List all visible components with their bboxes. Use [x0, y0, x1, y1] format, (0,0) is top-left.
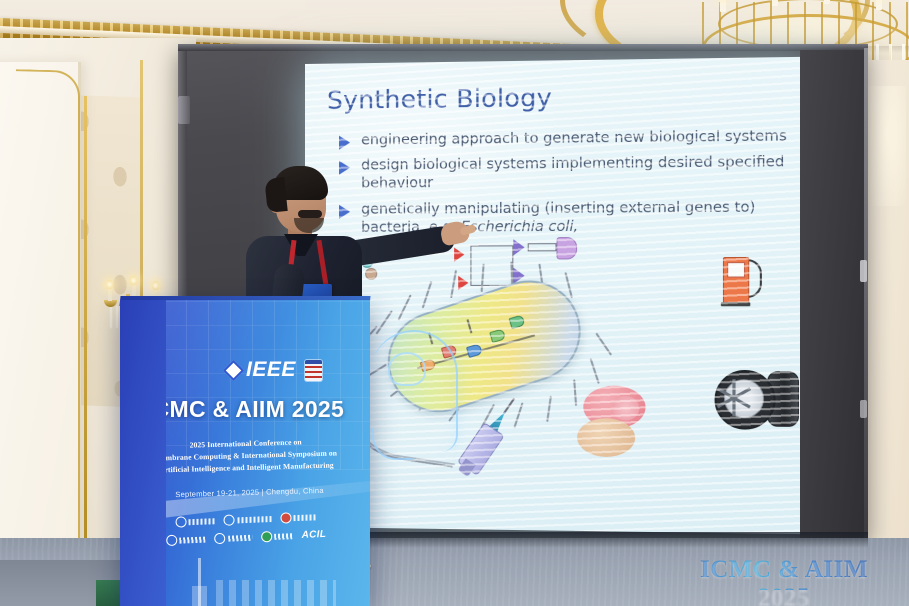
pump-display	[727, 262, 745, 277]
sponsor-logo-row: ACIL	[138, 528, 354, 547]
right-wall-light-glow	[866, 86, 906, 206]
screen-dark-panel-right	[800, 50, 868, 538]
sponsor-logo	[166, 534, 206, 547]
sponsor-wordmark	[180, 536, 206, 543]
gold-vertical-trim	[84, 96, 87, 548]
pilus	[595, 333, 612, 356]
sponsor-wordmark	[275, 533, 293, 540]
sponsor-logo	[224, 513, 272, 526]
tv-tower-graphic	[198, 558, 201, 606]
screen-latch	[860, 260, 867, 282]
ieee-wordmark: IEEE	[246, 358, 296, 382]
tire-wheel-icon	[715, 370, 804, 428]
sponsor-logo	[280, 511, 316, 523]
gene-block	[466, 343, 483, 358]
pilus	[546, 396, 552, 422]
conference-presentation-photo: Synthetic Biology engineering approach t…	[0, 0, 909, 606]
screen-bracket	[178, 96, 190, 124]
sconce-flame	[130, 276, 137, 285]
circuit-wire	[528, 243, 557, 251]
protein-structure-icon	[577, 385, 658, 461]
gene-block	[509, 315, 526, 330]
sponsor-mark-icon	[224, 514, 235, 525]
pilus	[481, 264, 485, 292]
pump-base	[721, 302, 750, 306]
sponsor-logo	[261, 530, 293, 542]
sponsor-wordmark	[237, 516, 271, 523]
secondary-logo-icon	[305, 360, 322, 381]
sponsor-logo	[215, 532, 253, 544]
ieee-logo: IEEE	[226, 356, 356, 384]
podium-left-face	[120, 300, 166, 606]
screen-latch	[860, 400, 867, 418]
bullet-text: engineering approach to generate new bio…	[361, 127, 787, 150]
gene-block	[489, 328, 506, 343]
promoter-icon	[556, 237, 577, 259]
bullet-text-italic: Escherichia coli,	[461, 218, 578, 235]
sconce-flame	[152, 281, 159, 290]
wall-panel-gold-trim	[16, 69, 80, 543]
acil-logo: ACIL	[301, 529, 326, 541]
screen-right-edge	[864, 48, 868, 540]
sponsor-mark-icon	[166, 535, 177, 546]
sconce-flame	[106, 280, 113, 289]
speaker-mustache	[298, 210, 322, 218]
podium-subtitle: 2025 International Conference on Membran…	[134, 435, 359, 477]
sponsor-mark-icon	[175, 516, 186, 527]
sponsor-wordmark	[294, 514, 316, 521]
bullet-triangle-icon	[339, 136, 350, 150]
protein-lobe	[577, 418, 635, 457]
slide-bullet-item: engineering approach to generate new bio…	[339, 127, 803, 150]
sponsor-mark-icon	[280, 512, 291, 523]
chandelier-candle	[824, 0, 830, 4]
and-gate-icon	[513, 239, 524, 255]
protein-lobe	[612, 396, 639, 421]
circuit-link	[467, 319, 472, 333]
pilus	[590, 358, 600, 384]
brain-icon	[388, 352, 426, 386]
sponsor-wordmark	[228, 534, 252, 541]
sponsor-mark-icon	[215, 533, 226, 544]
screen-frame-top	[178, 44, 868, 51]
chandelier-candle	[772, 0, 778, 6]
slide-title: Synthetic Biology	[327, 83, 552, 115]
sponsor-wordmark	[189, 518, 215, 525]
ieee-diamond-icon	[223, 359, 244, 380]
photo-watermark: ICMC & AIIM 2025	[672, 556, 896, 590]
chandelier-candle	[876, 0, 882, 10]
city-skyline-graphic	[216, 580, 336, 606]
sponsor-logo	[175, 515, 215, 528]
fuel-pump-icon	[723, 253, 759, 304]
chandelier-candle	[720, 0, 726, 12]
speaker-hair-side	[264, 177, 287, 213]
sponsor-mark-icon	[261, 531, 272, 542]
